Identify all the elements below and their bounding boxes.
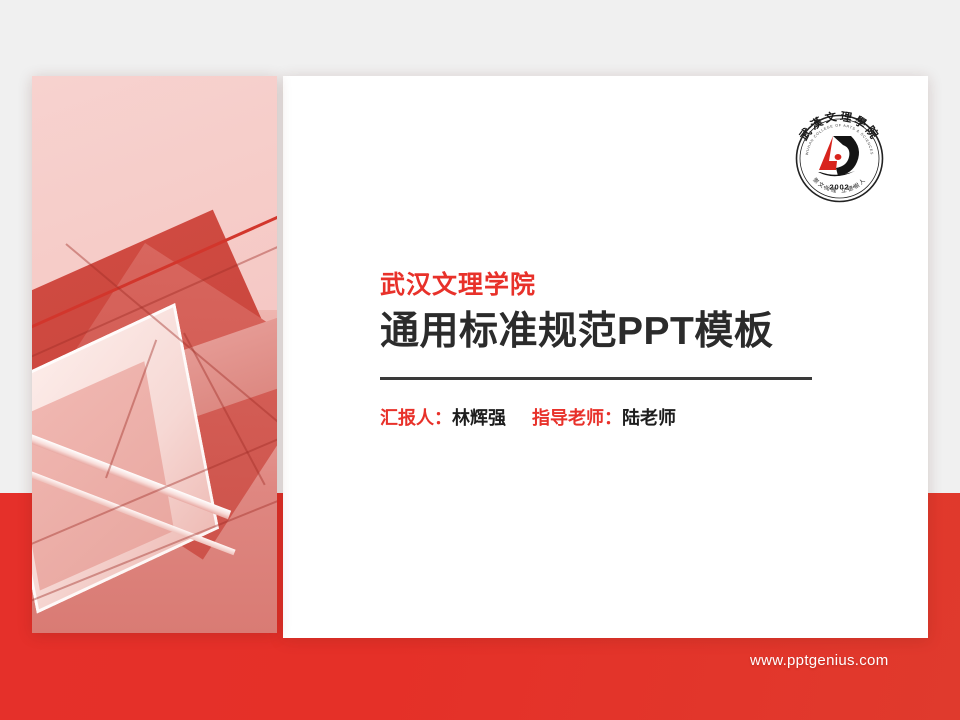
- school-name-subtitle: 武汉文理学院: [380, 270, 820, 301]
- university-logo-icon: 武漢文理學院 WUHAN COLLEGE OF ARTS & SCIENCES …: [789, 108, 890, 209]
- advisor-name: 陆老师: [622, 408, 676, 428]
- cover-photo: [32, 76, 277, 633]
- title-divider: [380, 377, 812, 380]
- page-title: 通用标准规范PPT模板: [380, 307, 820, 357]
- svg-text:· 2002 ·: · 2002 ·: [823, 183, 855, 192]
- presenter-info: 汇报人：林辉强指导老师：陆老师: [380, 404, 820, 430]
- presentation-slide: 武漢文理學院 WUHAN COLLEGE OF ARTS & SCIENCES …: [0, 0, 960, 720]
- advisor-label: 指导老师：: [532, 408, 622, 428]
- title-group: 武汉文理学院 通用标准规范PPT模板 汇报人：林辉强指导老师：陆老师: [380, 270, 820, 430]
- presenter-name: 林辉强: [452, 408, 506, 428]
- site-url: www.pptgenius.com: [750, 652, 889, 669]
- presenter-label: 汇报人：: [380, 408, 452, 428]
